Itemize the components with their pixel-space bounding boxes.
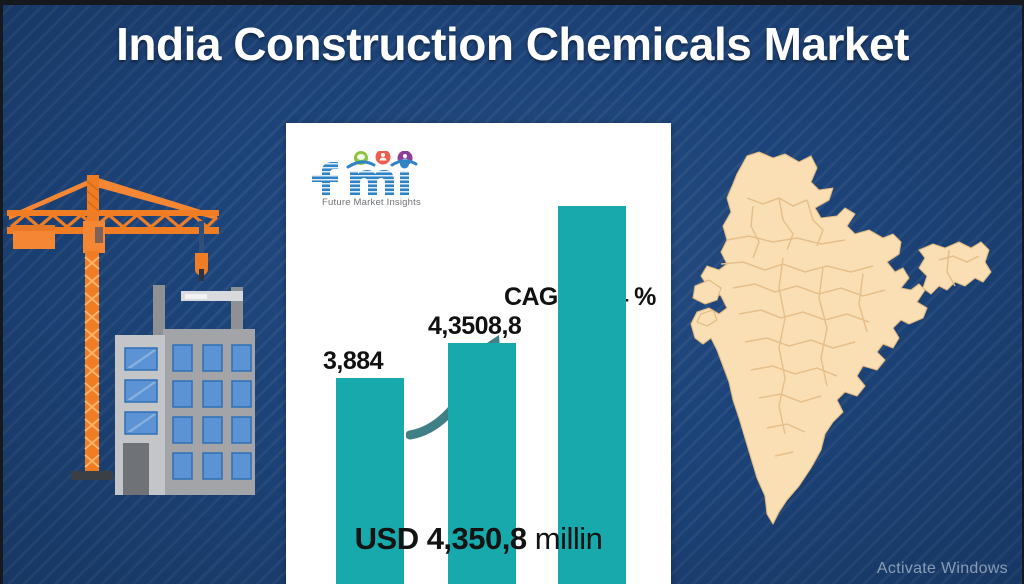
infographic-canvas: India Construction Chemicals Market [0,0,1024,584]
page-title: India Construction Chemicals Market [3,17,1022,71]
bar-value-2023: 3,884 [323,347,383,376]
building-icon [115,285,255,495]
activate-windows-watermark: Activate Windows [877,560,1008,578]
market-value-caption: USD 4,350,8 millin [286,521,671,557]
india-map-icon [687,138,1017,533]
construction-illustration [3,165,283,495]
bar-value-2024: 4,3508,8 [428,312,521,341]
market-value-amount: USD 4,350,8 [355,521,527,556]
bar-chart: CAGR 13,4 % 3,884 4,3508,8 2023 2024 203… [286,123,671,584]
chart-card: Future Market Insights CAGR 13,4 % 3,884… [286,123,671,584]
market-value-unit: millin [535,521,603,556]
